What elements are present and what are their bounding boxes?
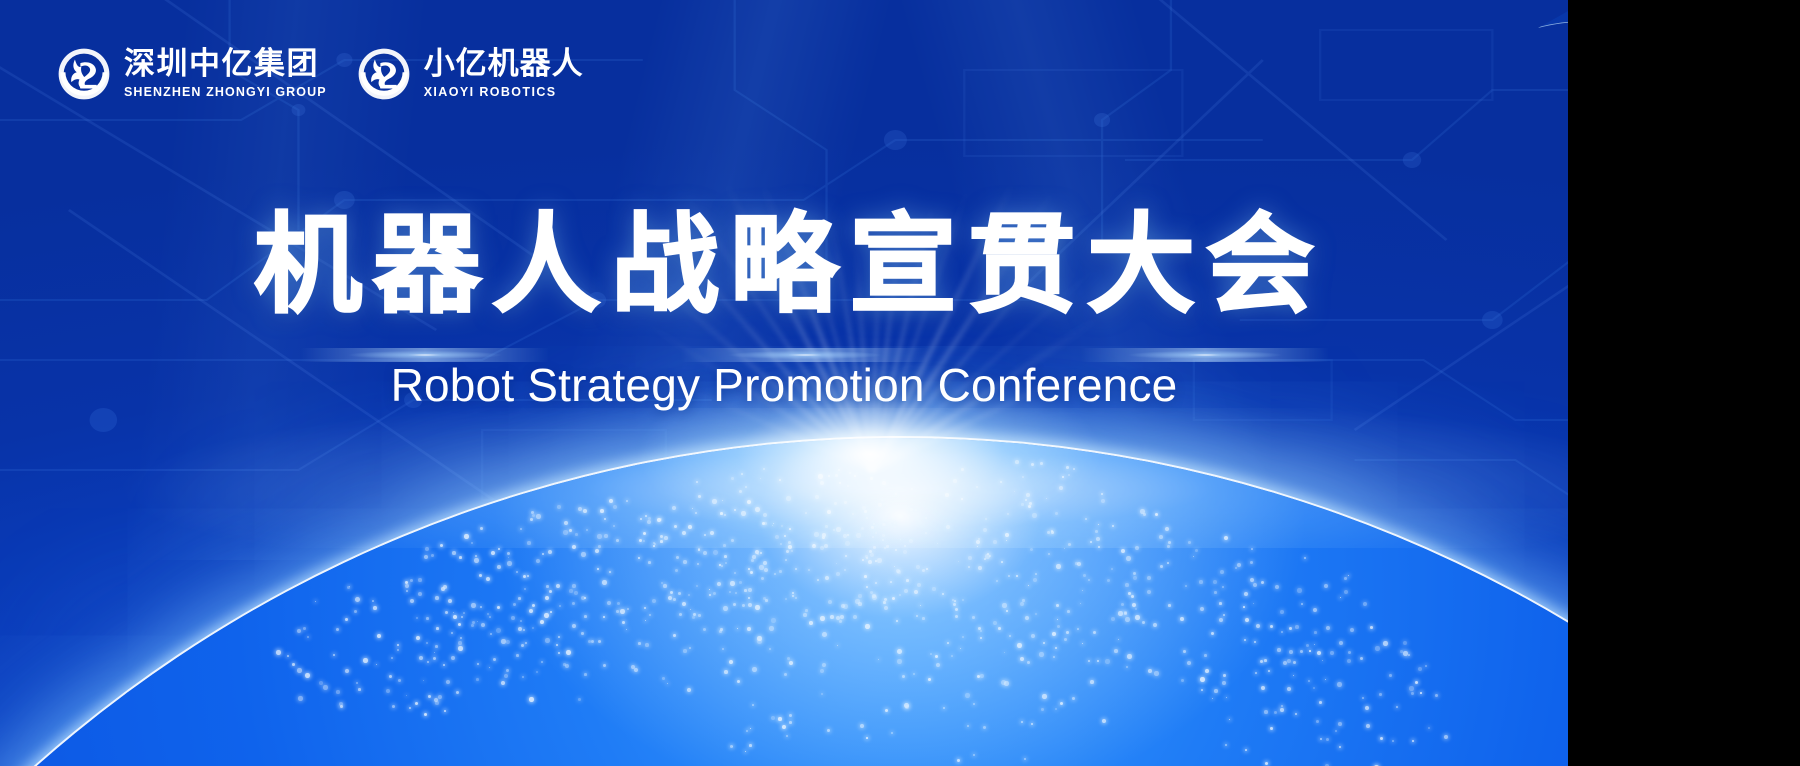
brand-logo-bar: 深圳中亿集团 SHENZHEN ZHONGYI GROUP 小亿机器人 XIAO…: [55, 45, 584, 103]
logo-text-block: 小亿机器人 XIAOYI ROBOTICS: [424, 49, 584, 99]
screenshot-canvas: 深圳中亿集团 SHENZHEN ZHONGYI GROUP 小亿机器人 XIAO…: [0, 0, 1800, 766]
logo-name-cn: 深圳中亿集团: [124, 49, 327, 80]
logo-shenzhen-zhongyi-group[interactable]: 深圳中亿集团 SHENZHEN ZHONGYI GROUP: [55, 45, 327, 103]
logo-name-en: SHENZHEN ZHONGYI GROUP: [124, 86, 327, 99]
logo-name-cn: 小亿机器人: [424, 49, 584, 80]
logo-xiaoyi-robotics[interactable]: 小亿机器人 XIAOYI ROBOTICS: [355, 45, 584, 103]
earth-horizon-graphic: [0, 346, 1800, 766]
earth-globe: [0, 438, 1800, 766]
logo-name-en: XIAOYI ROBOTICS: [424, 86, 584, 99]
zhongyi-circular-swoosh-logo-icon: [55, 45, 113, 103]
logo-text-block: 深圳中亿集团 SHENZHEN ZHONGYI GROUP: [124, 49, 327, 99]
main-title: 机器人战略宣贯大会: [0, 206, 1568, 327]
letterbox-bar-right: [1568, 0, 1800, 766]
conference-banner: 深圳中亿集团 SHENZHEN ZHONGYI GROUP 小亿机器人 XIAO…: [0, 0, 1800, 766]
xiaoyi-circular-swoosh-logo-icon: [355, 45, 413, 103]
